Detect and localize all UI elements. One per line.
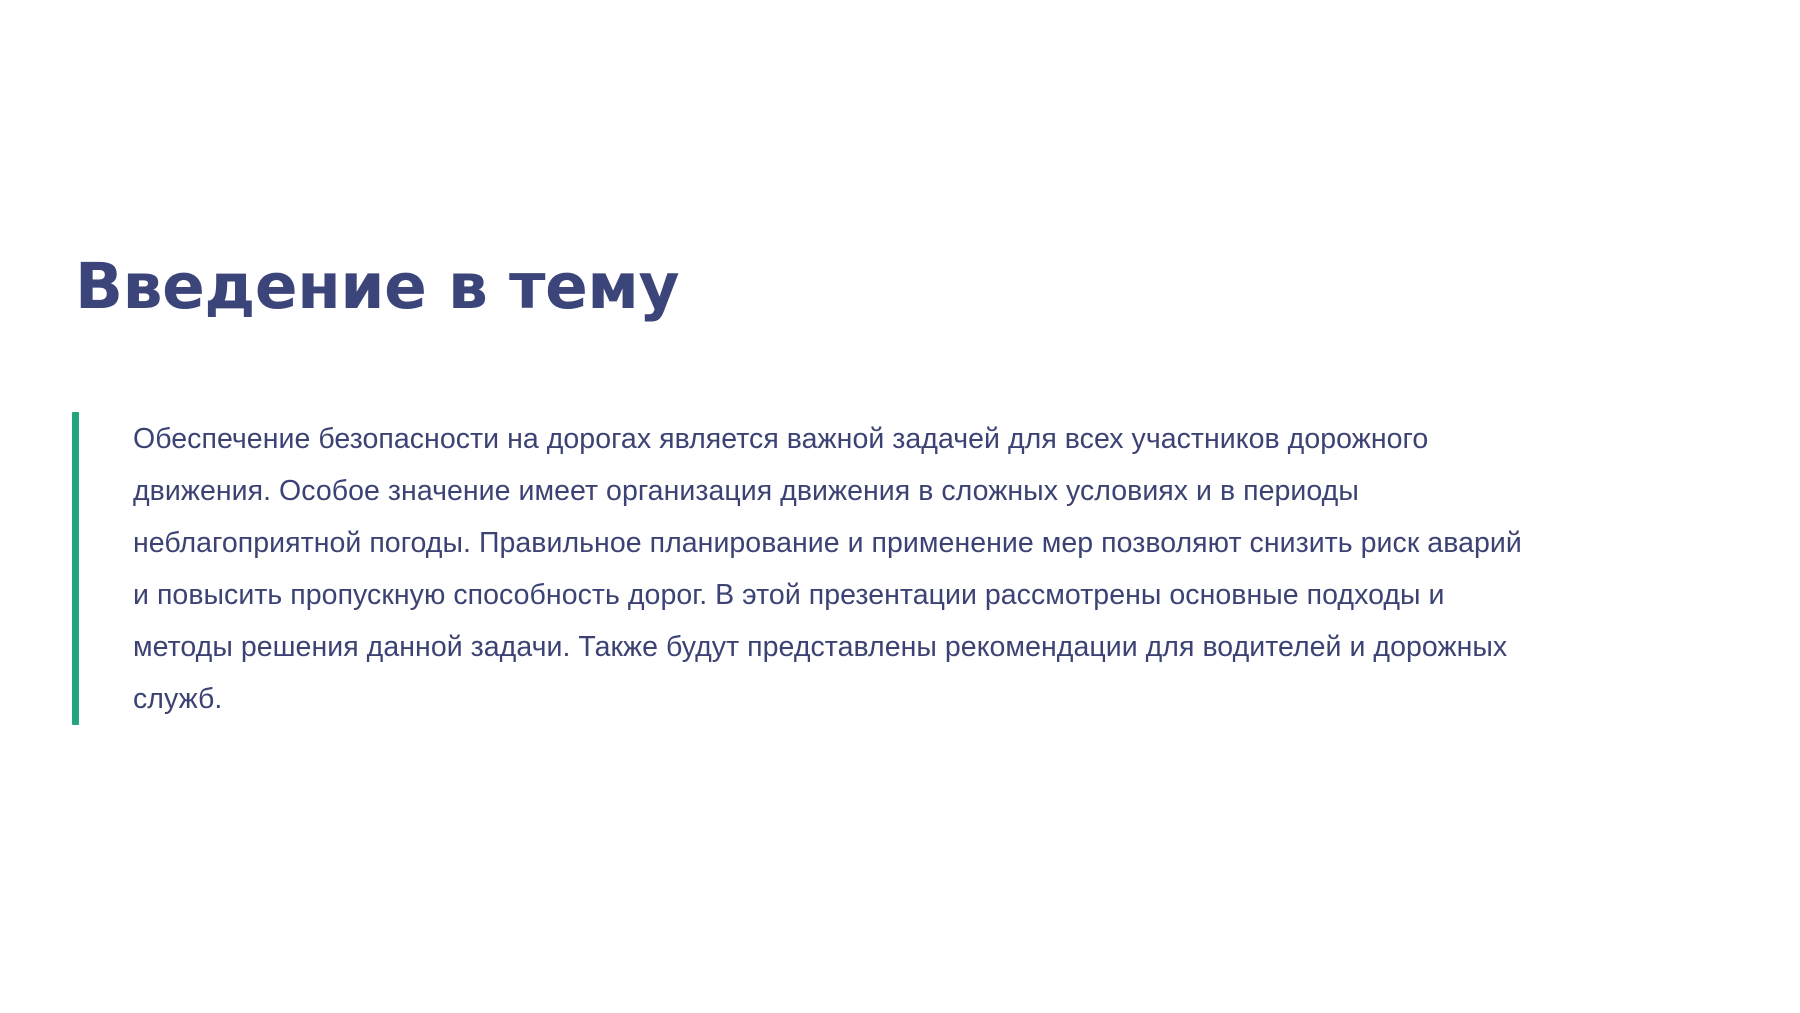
page-title: Введение в тему [75, 252, 679, 323]
presentation-slide: Введение в тему Обеспечение безопасности… [0, 0, 1800, 1013]
body-text-container: Обеспечение безопасности на дорогах явля… [79, 412, 1712, 725]
accent-bar [72, 412, 79, 725]
body-content-block: Обеспечение безопасности на дорогах явля… [72, 412, 1712, 725]
body-paragraph: Обеспечение безопасности на дорогах явля… [133, 413, 1523, 725]
